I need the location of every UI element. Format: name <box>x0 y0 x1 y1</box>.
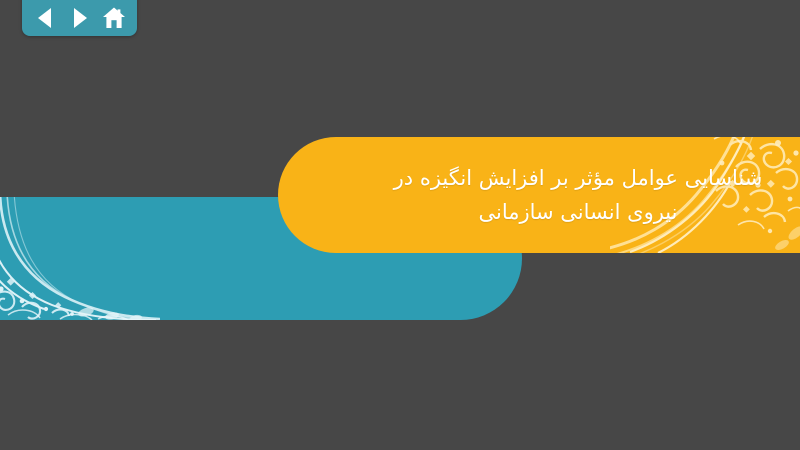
home-slide-button[interactable] <box>100 5 128 31</box>
navigation-toolbar[interactable] <box>22 0 137 36</box>
title-line-1: شناسایی عوامل مؤثر بر افزایش انگیزه در <box>394 166 763 190</box>
title-line-2: نیروی انسانی سازمانی <box>479 200 678 224</box>
teal-arabesque-ornament <box>0 197 160 320</box>
previous-slide-button[interactable] <box>31 5 59 31</box>
triangle-left-icon <box>35 7 55 29</box>
home-icon <box>102 6 126 30</box>
triangle-right-icon <box>70 7 90 29</box>
page-title: شناسایی عوامل مؤثر بر افزایش انگیزه درنی… <box>388 161 768 229</box>
presentation-slide: شناسایی عوامل مؤثر بر افزایش انگیزه درنی… <box>0 0 800 450</box>
next-slide-button[interactable] <box>66 5 94 31</box>
title-banner: شناسایی عوامل مؤثر بر افزایش انگیزه درنی… <box>278 137 800 253</box>
